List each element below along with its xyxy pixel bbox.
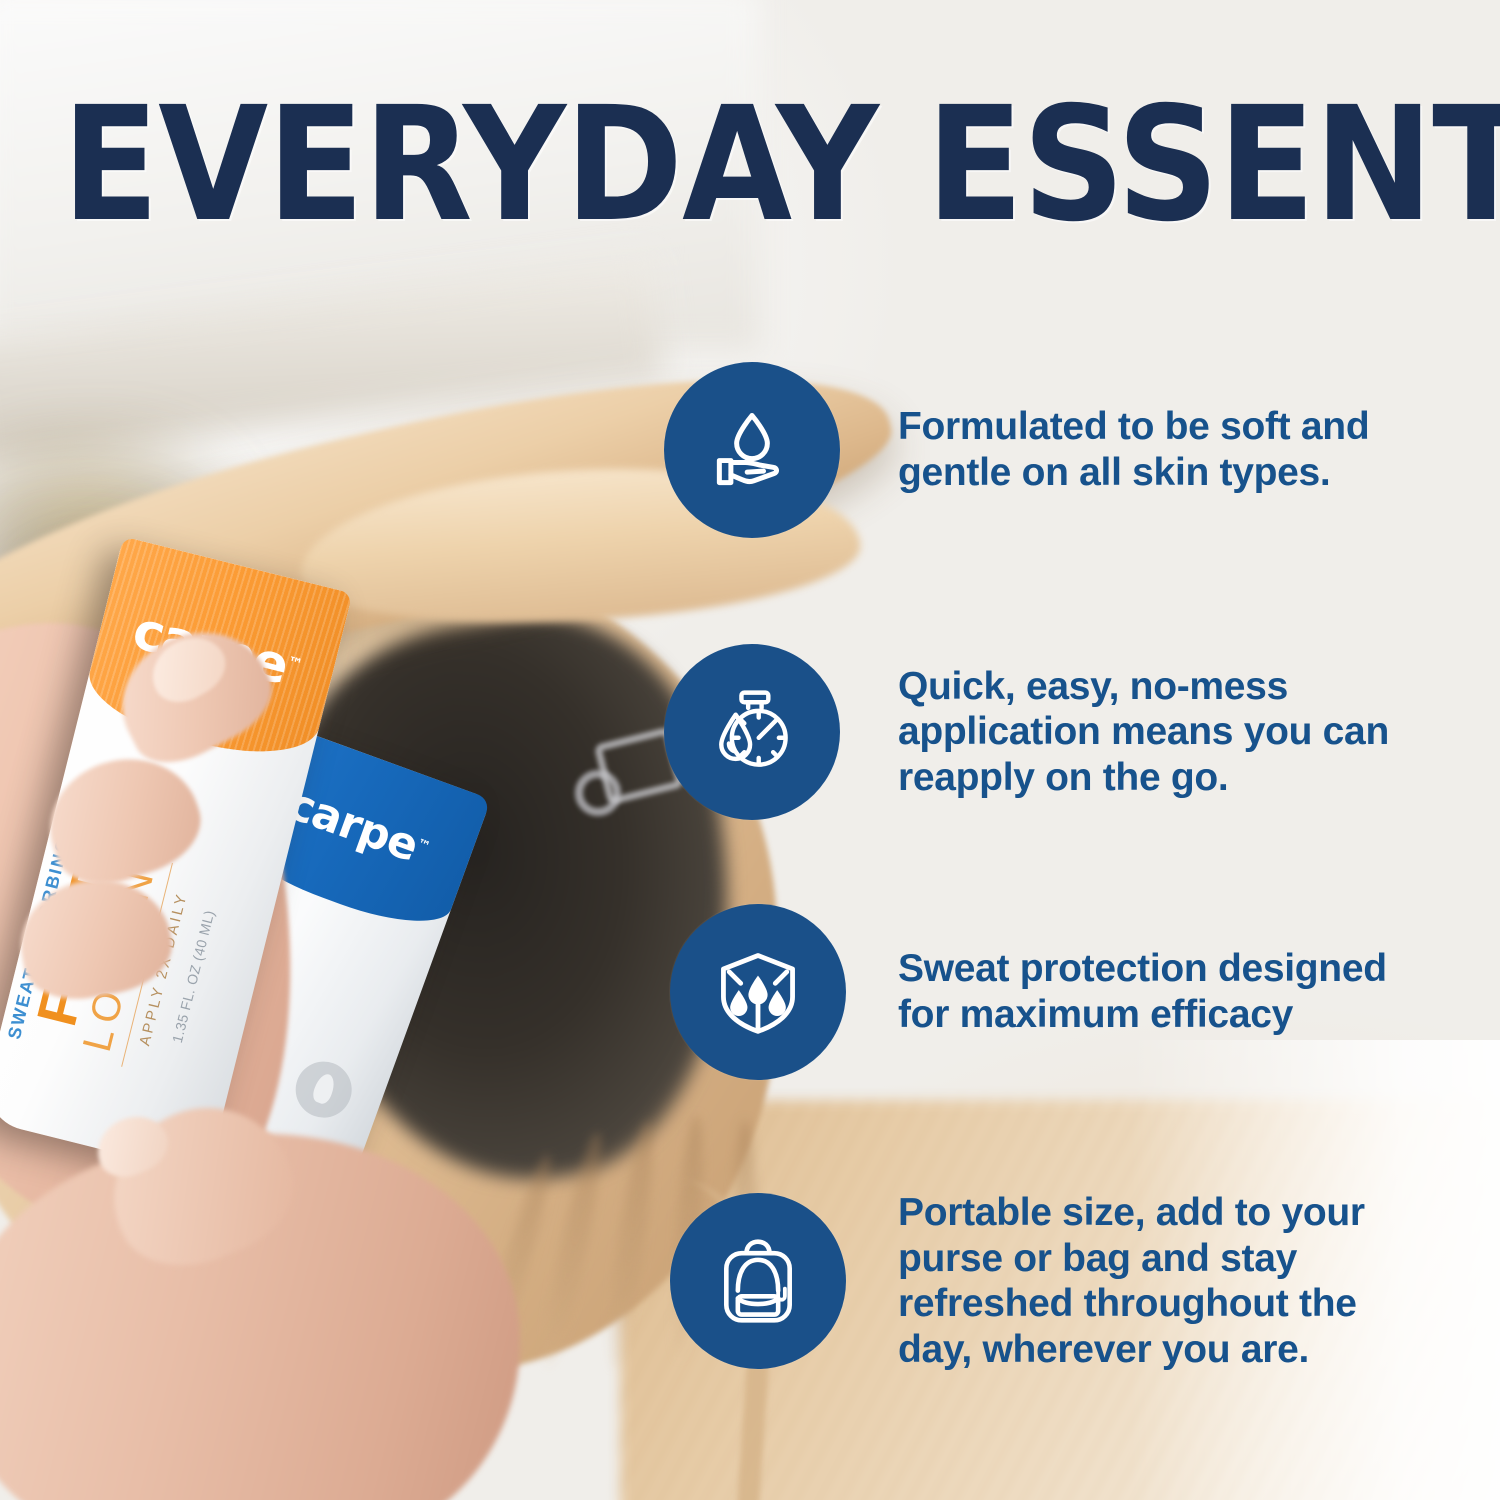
water-drop-in-hand-icon: [664, 362, 840, 538]
feature-text: Formulated to be soft and gentle on all …: [898, 404, 1398, 495]
feature-item-portable-size: Portable size, add to your purse or bag …: [670, 1190, 1408, 1373]
feature-item-quick-application: Quick, easy, no-mess application means y…: [664, 644, 1398, 820]
feature-item-soft-gentle: Formulated to be soft and gentle on all …: [664, 362, 1398, 538]
feature-text: Quick, easy, no-mess application means y…: [898, 664, 1398, 801]
feature-text: Portable size, add to your purse or bag …: [898, 1190, 1408, 1373]
feature-item-sweat-protection: Sweat protection designed for maximum ef…: [670, 904, 1408, 1080]
page-title: EVERYDAY ESSENTIALS: [62, 86, 1462, 244]
feature-text: Sweat protection designed for maximum ef…: [898, 946, 1408, 1037]
backpack-icon: [670, 1193, 846, 1369]
stopwatch-with-droplet-icon: [664, 644, 840, 820]
shield-with-droplets-icon: [670, 904, 846, 1080]
product-feature-banner: carpe™ SWEAT ABSORBING EXTRACTS FOOT EXF…: [0, 0, 1500, 1500]
